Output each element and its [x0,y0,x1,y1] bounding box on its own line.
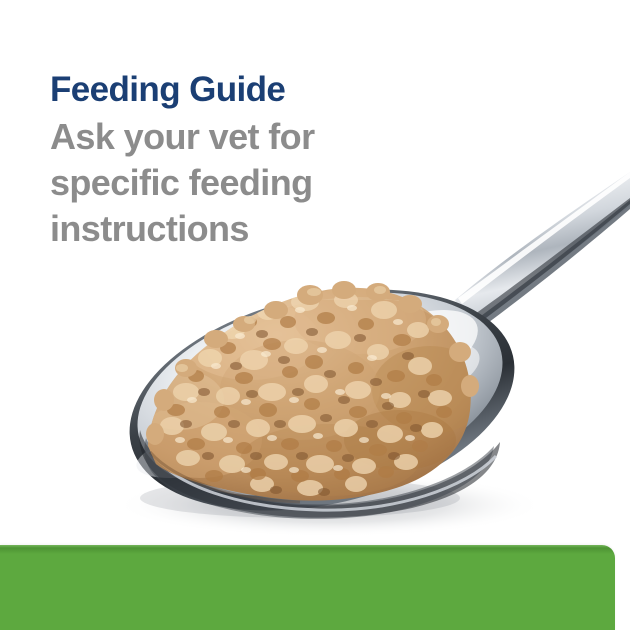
green-footer-bar [0,545,615,630]
headline-block: Feeding Guide Ask your vet for specific … [50,70,430,252]
page-title: Feeding Guide [50,70,430,110]
feeding-guide-card: Feeding Guide Ask your vet for specific … [0,0,630,630]
subtitle-line-1: Ask your vet for [50,114,430,160]
subtitle-line-2: specific feeding [50,160,430,206]
subtitle-line-3: instructions [50,206,430,252]
page-subtitle: Ask your vet for specific feeding instru… [50,114,430,252]
